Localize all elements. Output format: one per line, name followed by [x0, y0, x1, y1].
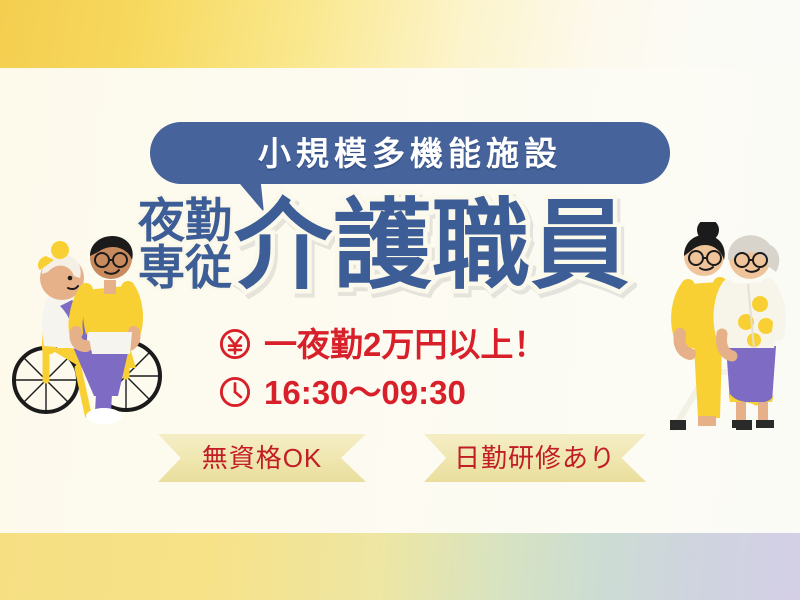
role-prefix-line2: 専従	[138, 245, 232, 292]
caregiver-with-walker-user-illustration	[664, 222, 792, 439]
clock-icon	[218, 375, 252, 409]
job-ad-banner: 小規模多機能施設 夜勤 専従 介護職員 一夜勤2万円以上！	[0, 0, 800, 600]
facility-tag-label: 小規模多機能施設	[258, 137, 562, 170]
top-yellow-band	[0, 0, 800, 68]
job-title-headline: 夜勤 専従 介護職員	[138, 196, 630, 294]
role-prefix-line1: 夜勤	[138, 198, 232, 245]
yen-circle-icon	[218, 327, 252, 361]
badge-no-qualification: 無資格OK	[158, 434, 366, 482]
hours-row: 16:30〜09:30	[218, 368, 546, 416]
pay-row: 一夜勤2万円以上！	[218, 320, 546, 368]
badge-label: 日勤研修あり	[454, 445, 616, 471]
role-title: 介護職員	[234, 196, 630, 294]
badge-day-training: 日勤研修あり	[424, 434, 646, 482]
pay-label: 一夜勤2万円以上！	[264, 328, 546, 361]
badge-label: 無資格OK	[202, 445, 323, 471]
facility-tag-bubble: 小規模多機能施設	[150, 122, 670, 184]
hours-label: 16:30〜09:30	[264, 376, 466, 409]
bottom-gradient-band	[0, 533, 800, 600]
role-prefix: 夜勤 専従	[138, 198, 232, 291]
job-details: 一夜勤2万円以上！ 16:30〜09:30	[218, 320, 546, 416]
